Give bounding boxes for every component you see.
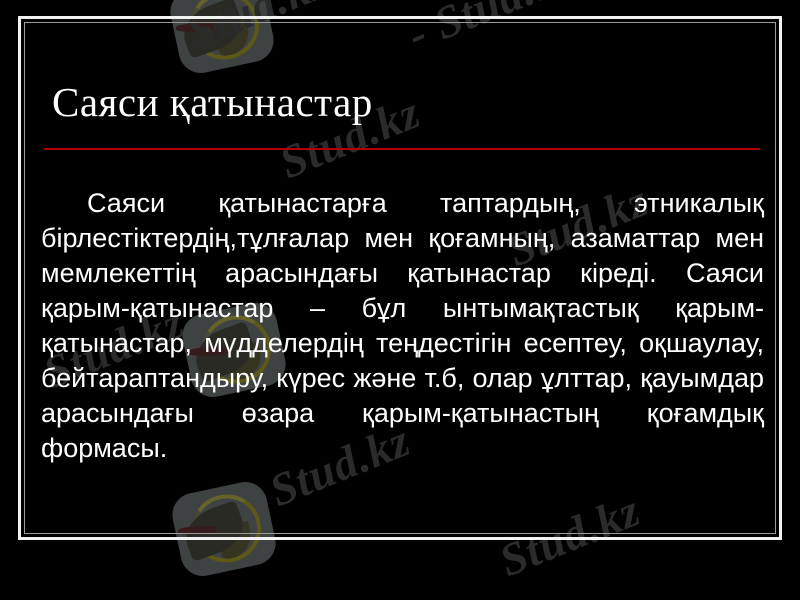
slide-title: Саяси қатынастар (52, 78, 752, 126)
title-underline-rule (44, 148, 760, 150)
presentation-slide: Stud.kz- Stud.kzStud.kzStud.kzStud.kzStu… (0, 0, 800, 600)
slide-content: Саяси қатынастар Саяси қатынастарға тапт… (0, 0, 800, 600)
slide-body-paragraph: Саяси қатынастарға таптардың, этникалық … (41, 186, 764, 501)
